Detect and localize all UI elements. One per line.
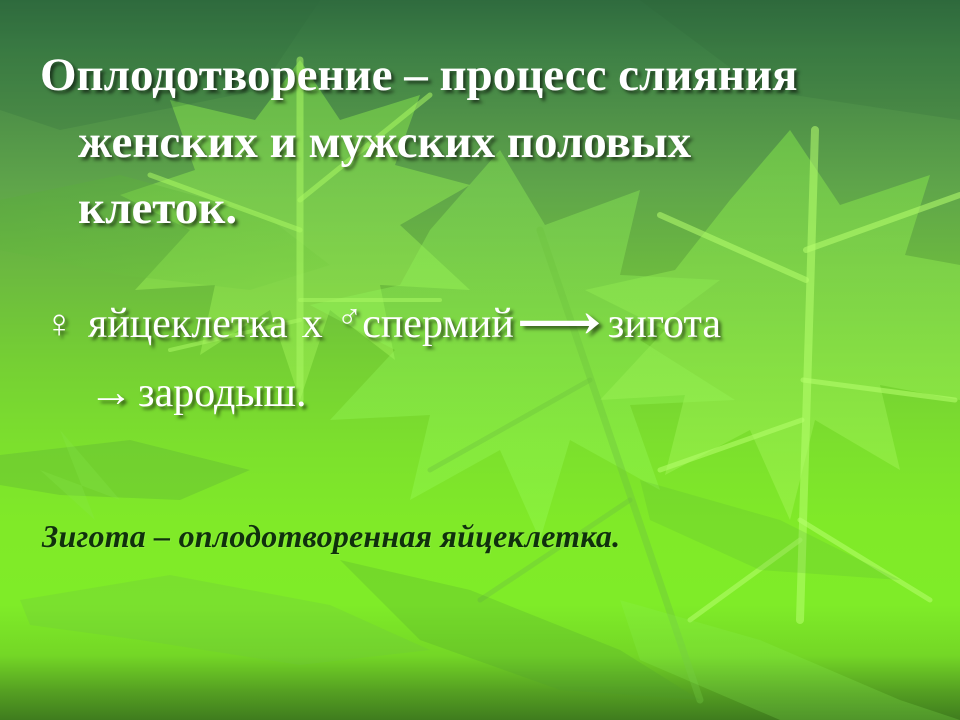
egg-label: яйцеклетка <box>88 301 288 347</box>
formula-line-2: →зародыш. <box>90 360 944 427</box>
cross-operator: х <box>302 301 323 347</box>
title-line-1: Оплодотворение – процесс слияния <box>40 42 960 109</box>
arrow-right-icon: ⟶ <box>517 284 601 361</box>
fertilization-formula: ♀яйцеклетках♂спермий⟶зигота →зародыш. <box>44 286 944 427</box>
sperm-label: спермий <box>362 301 514 347</box>
title-line-2: женских и мужских половых <box>78 109 960 176</box>
title-line-3: клеток. <box>78 175 960 242</box>
formula-line-1: ♀яйцеклетках♂спермий⟶зигота <box>44 301 721 347</box>
zygote-label: зигота <box>608 301 721 347</box>
zygote-definition: Зигота – оплодотворенная яйцеклетка. <box>42 518 620 555</box>
male-symbol-icon: ♂ <box>337 299 363 336</box>
embryo-label: зародыш. <box>138 370 306 416</box>
female-symbol-icon: ♀ <box>44 301 74 346</box>
arrow-right-icon-2: → <box>89 360 134 427</box>
presentation-slide: Оплодотворение – процесс слияния женских… <box>0 0 960 720</box>
slide-title: Оплодотворение – процесс слияния женских… <box>40 42 960 242</box>
